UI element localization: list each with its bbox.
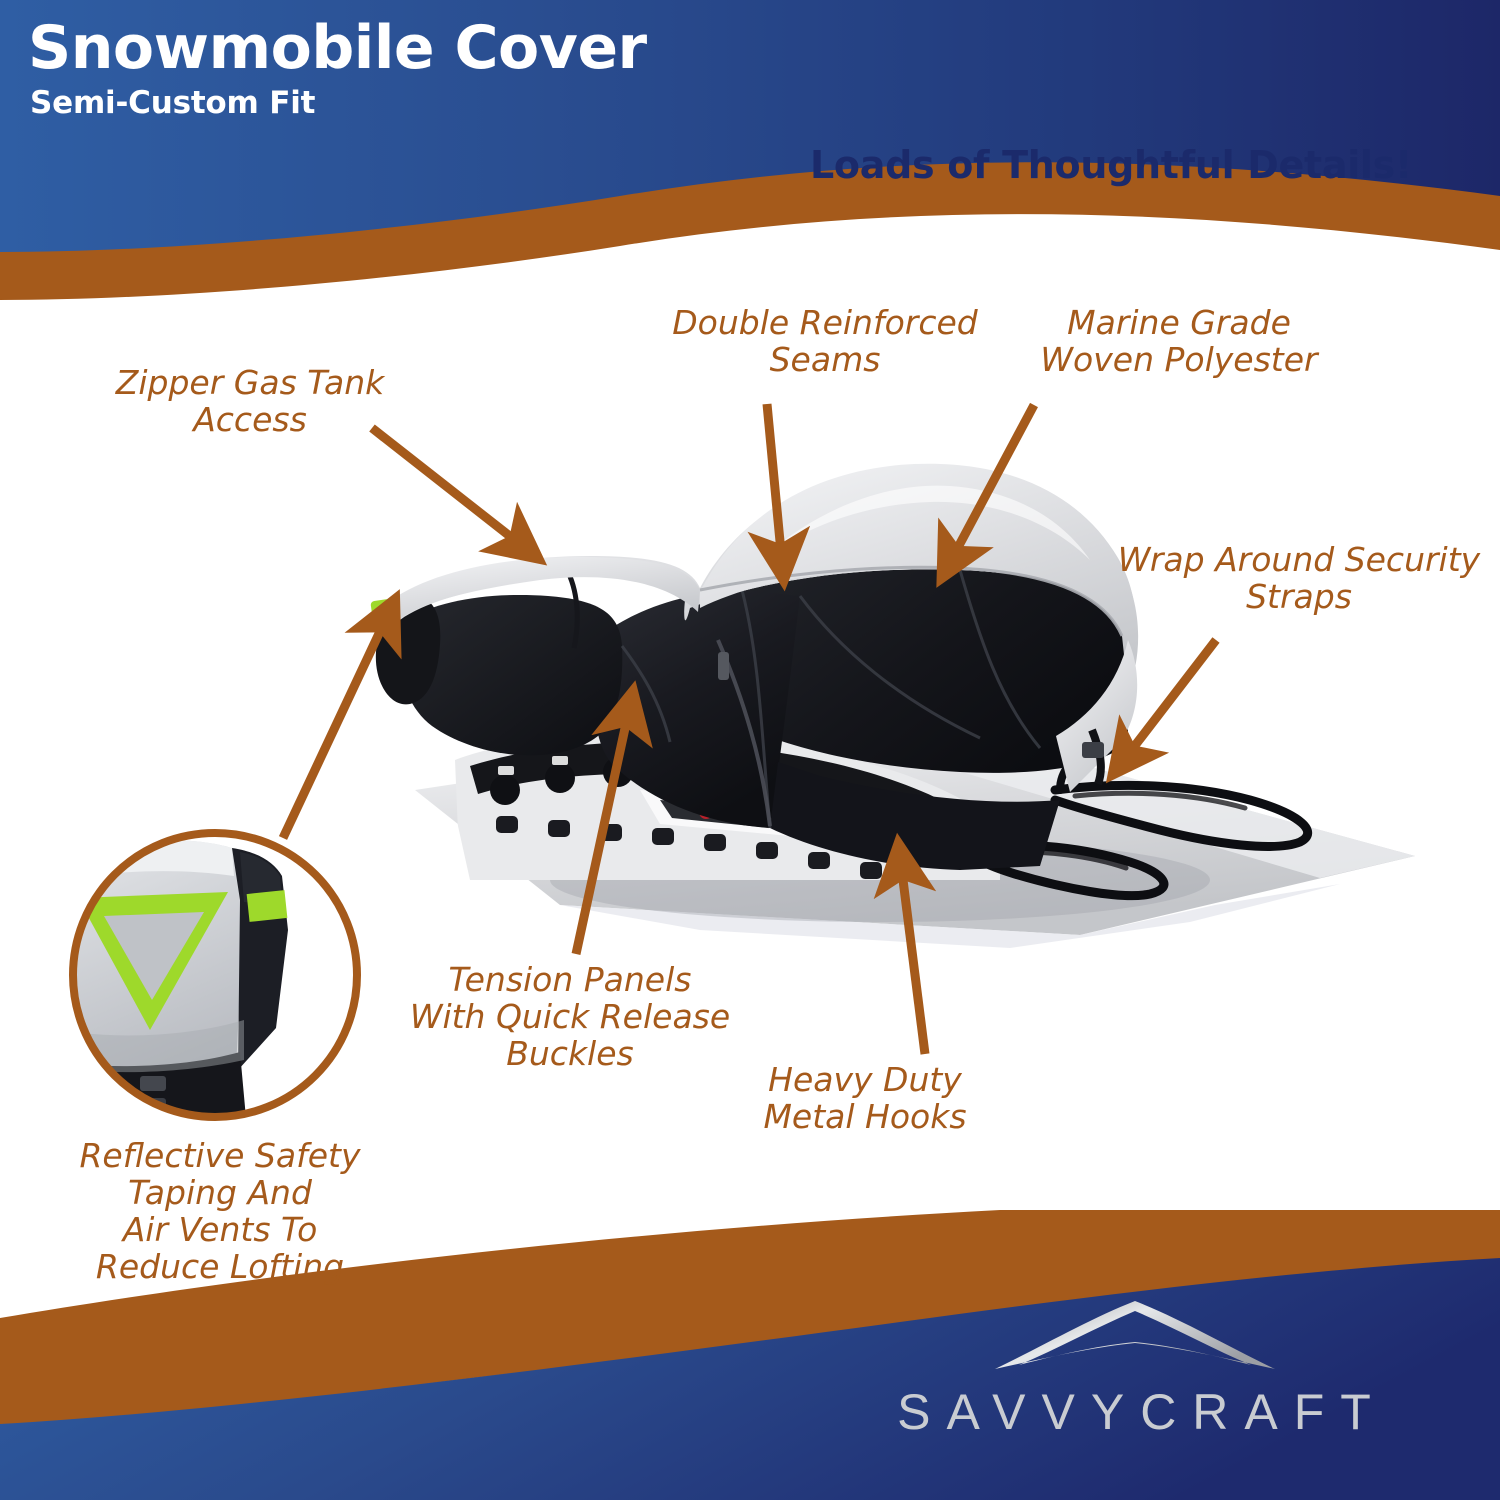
callout-reflective-safety-taping: Reflective Safety Taping And Air Vents T… xyxy=(45,1138,395,1286)
arch-mark-icon xyxy=(985,1295,1285,1379)
callout-tension-panels: Tension Panels With Quick Release Buckle… xyxy=(400,962,740,1073)
brand-logo: SAVVYCRAFT xyxy=(855,1295,1415,1441)
callout-marine-grade-woven-polyester: Marine Grade Woven Polyester xyxy=(1014,305,1344,379)
header-tagline: Loads of Thoughtful Details! xyxy=(810,143,1412,187)
infographic-page: Snowmobile Cover Semi-Custom Fit Loads o… xyxy=(0,0,1500,1500)
callout-zipper-gas-tank-access: Zipper Gas Tank Access xyxy=(100,365,400,439)
callout-double-reinforced-seams: Double Reinforced Seams xyxy=(650,305,1000,379)
callout-wrap-around-security-straps: Wrap Around Security Straps xyxy=(1108,542,1490,616)
callout-heavy-duty-metal-hooks: Heavy Duty Metal Hooks xyxy=(720,1062,1010,1136)
brand-name: SAVVYCRAFT xyxy=(869,1383,1415,1441)
